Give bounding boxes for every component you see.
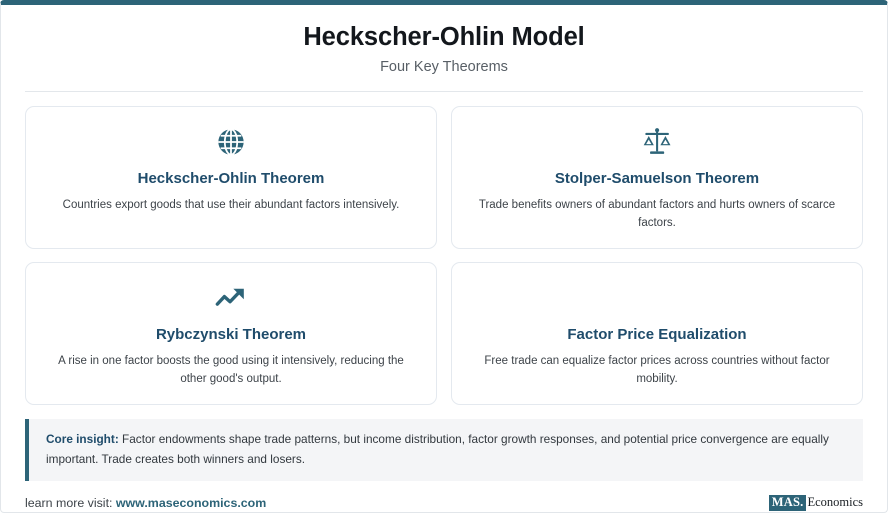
logo-wordmark: Economics	[807, 496, 863, 510]
page-title: Heckscher-Ohlin Model	[25, 22, 863, 52]
footer-note: learn more visit: www.maseconomics.com	[25, 496, 266, 510]
header: Heckscher-Ohlin Model Four Key Theorems	[25, 5, 863, 92]
balance-scale-icon	[641, 125, 673, 159]
trending-up-icon	[215, 281, 247, 315]
theorem-card-title: Heckscher-Ohlin Theorem	[138, 170, 325, 189]
theorem-card-title: Stolper-Samuelson Theorem	[555, 170, 759, 189]
website-link[interactable]: www.maseconomics.com	[116, 496, 266, 510]
theorem-card-rybczynski[interactable]: Rybczynski Theorem A rise in one factor …	[25, 262, 437, 405]
core-insight-label: Core insight:	[46, 432, 119, 446]
logo-mark: MAS.	[769, 495, 807, 512]
footer: learn more visit: www.maseconomics.com M…	[25, 495, 863, 512]
theorem-card-description: Trade benefits owners of abundant factor…	[472, 197, 842, 232]
core-insight-text: Core insight: Factor endowments shape tr…	[46, 430, 847, 468]
maseconomics-logo: MAS. Economics	[769, 495, 863, 512]
theorem-card-stolper-samuelson[interactable]: Stolper-Samuelson Theorem Trade benefits…	[451, 106, 863, 249]
core-insight-body: Factor endowments shape trade patterns, …	[46, 432, 829, 465]
theorem-card-factor-price-equalization[interactable]: Factor Price Equalization Free trade can…	[451, 262, 863, 405]
core-insight-callout: Core insight: Factor endowments shape tr…	[25, 419, 863, 480]
theorem-card-description: Countries export goods that use their ab…	[63, 197, 400, 214]
theorem-card-title: Rybczynski Theorem	[156, 326, 306, 345]
infographic-root: Heckscher-Ohlin Model Four Key Theorems	[0, 0, 888, 513]
globe-icon	[216, 125, 246, 159]
footer-note-label: learn more visit:	[25, 496, 112, 510]
theorem-card-description: Free trade can equalize factor prices ac…	[472, 353, 842, 388]
theorem-card-title: Factor Price Equalization	[567, 326, 746, 345]
page-subtitle: Four Key Theorems	[25, 59, 863, 76]
theorem-card-description: A rise in one factor boosts the good usi…	[46, 353, 416, 388]
theorem-card-grid: Heckscher-Ohlin Theorem Countries export…	[25, 106, 863, 405]
theorem-card-heckscher-ohlin[interactable]: Heckscher-Ohlin Theorem Countries export…	[25, 106, 437, 249]
header-divider	[25, 91, 863, 92]
